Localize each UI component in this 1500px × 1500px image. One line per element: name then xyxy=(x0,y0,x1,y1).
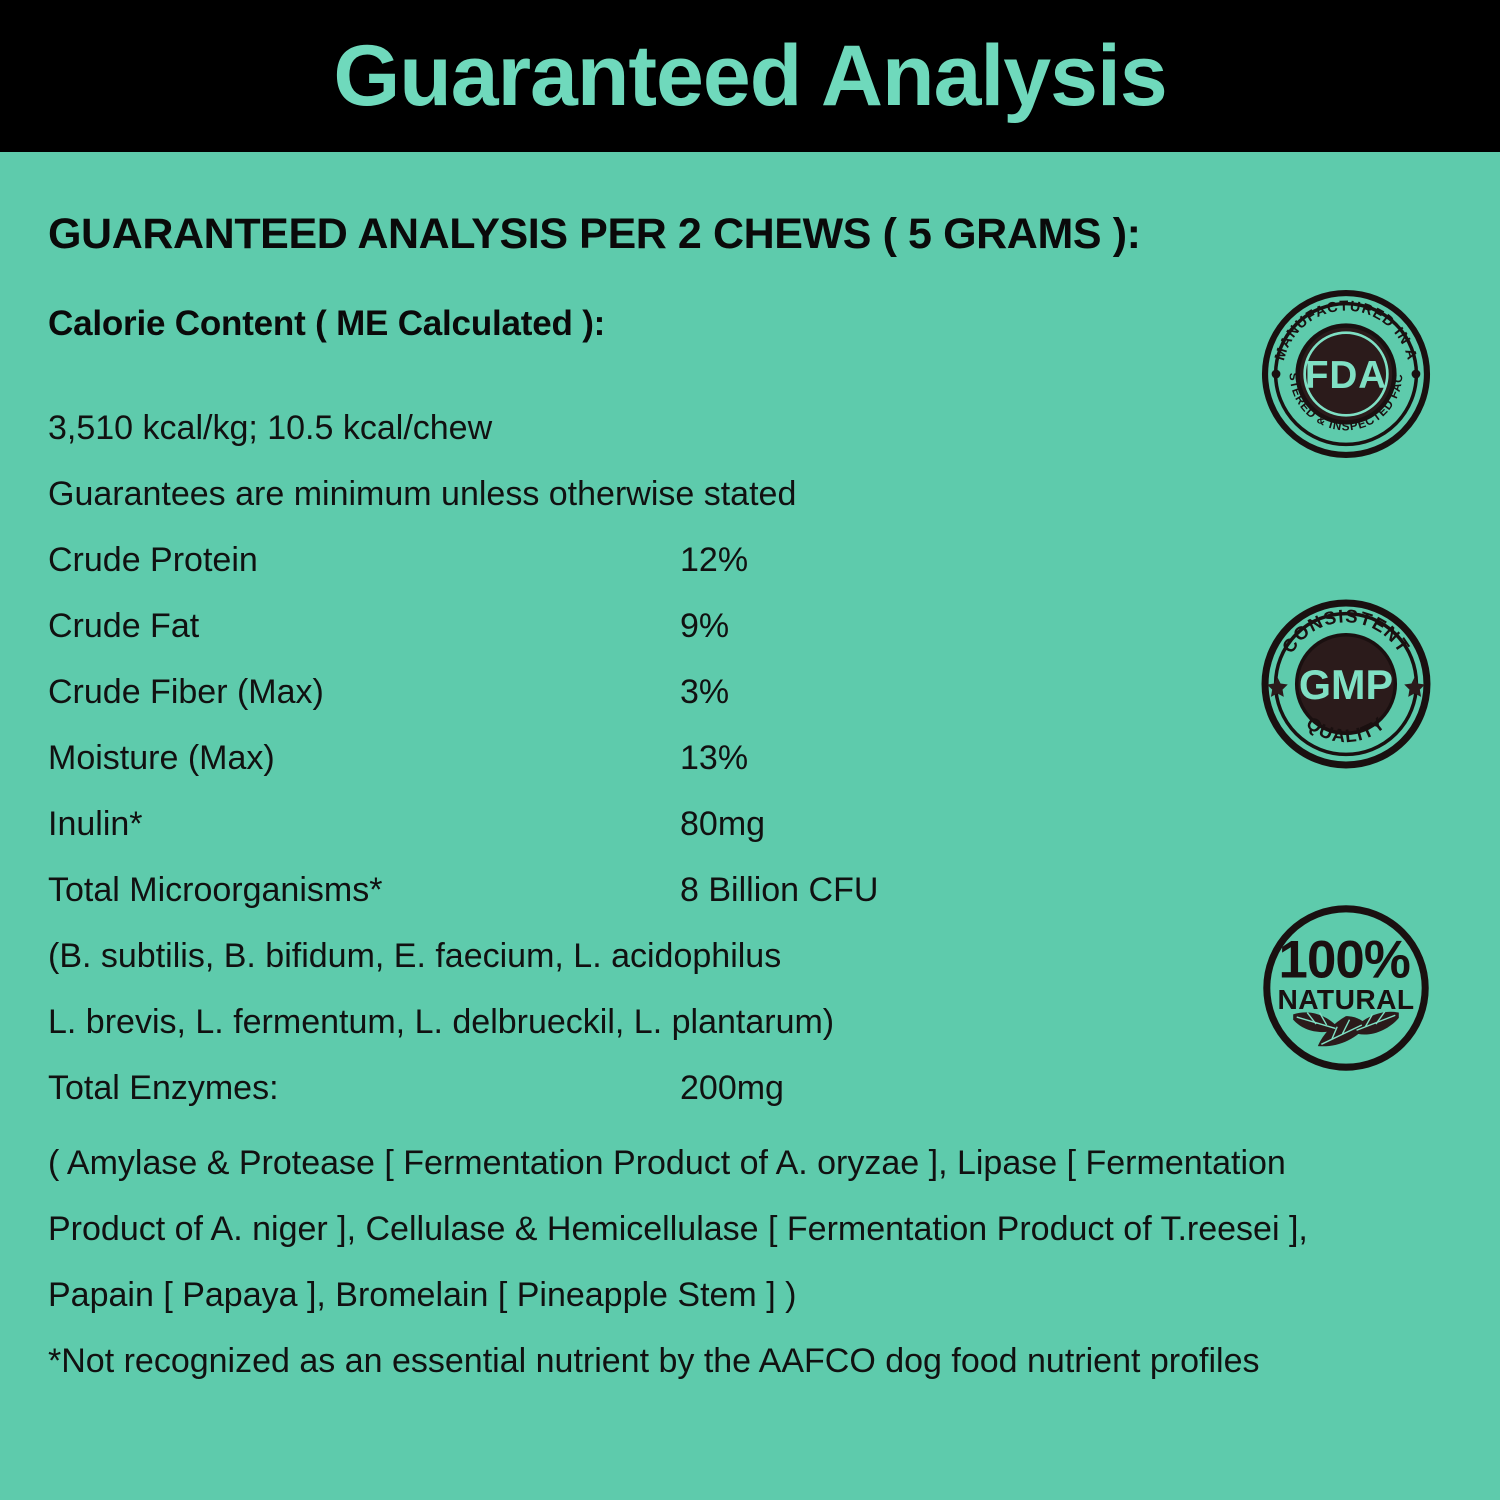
row-label: Crude Protein xyxy=(48,527,258,593)
table-row: Total Microorganisms* 8 Billion CFU xyxy=(48,857,1008,923)
row-value: 9% xyxy=(680,593,729,659)
enzyme-line: ( Amylase & Protease [ Fermentation Prod… xyxy=(48,1130,1438,1196)
table-row: Crude Fiber (Max) 3% xyxy=(48,659,1008,725)
table-row: Guarantees are minimum unless otherwise … xyxy=(48,461,1008,527)
row-value: 3% xyxy=(680,659,729,725)
row-value: 13% xyxy=(680,725,748,791)
hundred-percent-natural-icon: 100% NATURAL xyxy=(1258,900,1434,1076)
row-value: 12% xyxy=(680,527,748,593)
table-row: L. brevis, L. fermentum, L. delbrueckil,… xyxy=(48,989,1008,1055)
row-label: Total Enzymes: xyxy=(48,1055,279,1121)
table-row: 3,510 kcal/kg; 10.5 kcal/chew xyxy=(48,395,1008,461)
row-label: (B. subtilis, B. bifidum, E. faecium, L.… xyxy=(48,923,781,989)
footnote-line: *Not recognized as an essential nutrient… xyxy=(48,1328,1438,1394)
gmp-seal-icon: CONSISTENT QUALITY GMP xyxy=(1258,596,1434,772)
svg-text:100%: 100% xyxy=(1278,930,1410,989)
subsection-title: Calorie Content ( ME Calculated ): xyxy=(48,304,605,344)
enzyme-line: Papain [ Papaya ], Bromelain [ Pineapple… xyxy=(48,1262,1438,1328)
enzyme-line: Product of A. niger ], Cellulase & Hemic… xyxy=(48,1196,1438,1262)
row-value: 80mg xyxy=(680,791,765,857)
table-row: (B. subtilis, B. bifidum, E. faecium, L.… xyxy=(48,923,1008,989)
table-row: Moisture (Max) 13% xyxy=(48,725,1008,791)
table-row: Crude Fat 9% xyxy=(48,593,1008,659)
table-row: Total Enzymes: 200mg xyxy=(48,1055,1008,1121)
svg-text:FDA: FDA xyxy=(1305,354,1387,397)
table-row: Crude Protein 12% xyxy=(48,527,1008,593)
certification-badges: MANUFACTURED IN A REGISTERED & INSPECTED… xyxy=(1258,152,1438,1500)
fda-seal-icon: MANUFACTURED IN A REGISTERED & INSPECTED… xyxy=(1258,286,1434,462)
row-label: Moisture (Max) xyxy=(48,725,275,791)
svg-text:NATURAL: NATURAL xyxy=(1277,984,1414,1015)
row-label: Crude Fat xyxy=(48,593,199,659)
guaranteed-analysis-table: 3,510 kcal/kg; 10.5 kcal/chew Guarantees… xyxy=(48,395,1008,1121)
header-band: Guaranteed Analysis xyxy=(0,0,1500,152)
guaranteed-analysis-panel: Guaranteed Analysis GUARANTEED ANALYSIS … xyxy=(0,0,1500,1500)
svg-text:GMP: GMP xyxy=(1299,662,1393,708)
row-label: 3,510 kcal/kg; 10.5 kcal/chew xyxy=(48,395,492,461)
page-title: Guaranteed Analysis xyxy=(0,0,1500,152)
content-area: GUARANTEED ANALYSIS PER 2 CHEWS ( 5 GRAM… xyxy=(0,152,1500,1500)
row-label: Inulin* xyxy=(48,791,143,857)
section-title: GUARANTEED ANALYSIS PER 2 CHEWS ( 5 GRAM… xyxy=(48,210,1141,259)
row-label: Crude Fiber (Max) xyxy=(48,659,324,725)
row-label: Guarantees are minimum unless otherwise … xyxy=(48,461,796,527)
row-label: L. brevis, L. fermentum, L. delbrueckil,… xyxy=(48,989,834,1055)
row-value: 200mg xyxy=(680,1055,784,1121)
table-row: Inulin* 80mg xyxy=(48,791,1008,857)
row-value: 8 Billion CFU xyxy=(680,857,878,923)
row-label: Total Microorganisms* xyxy=(48,857,382,923)
enzyme-details-block: ( Amylase & Protease [ Fermentation Prod… xyxy=(48,1130,1438,1394)
